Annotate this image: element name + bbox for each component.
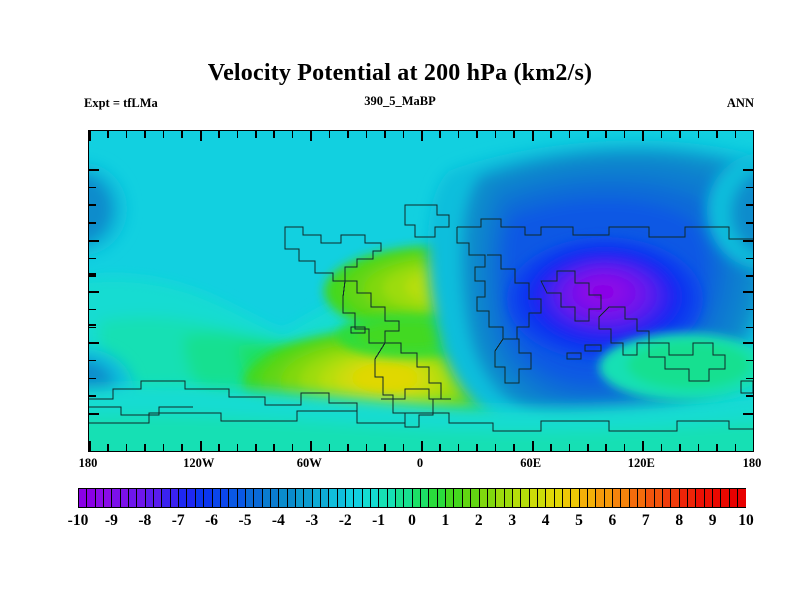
y-tick-minor xyxy=(88,204,96,206)
colorbar-cell xyxy=(246,489,254,507)
colorbar-cell xyxy=(571,489,579,507)
x-tick-minor xyxy=(163,130,165,138)
x-tick-minor xyxy=(403,444,405,452)
x-tick-major xyxy=(200,130,202,141)
x-tick-minor xyxy=(550,444,552,452)
x-tick-minor xyxy=(587,444,589,452)
y-tick-40n xyxy=(88,240,99,242)
x-tick-minor xyxy=(716,130,718,138)
colorbar-cell xyxy=(87,489,95,507)
y-tick-right xyxy=(743,240,754,242)
colorbar-cell xyxy=(738,489,745,507)
x-tick-major xyxy=(89,441,91,452)
colorbar-cell xyxy=(413,489,421,507)
y-tick-minor xyxy=(88,258,96,260)
x-tick-minor xyxy=(218,130,220,138)
y-tick-equator xyxy=(88,291,99,293)
map-plot-area xyxy=(88,130,754,452)
x-tick-major xyxy=(532,441,534,452)
colorbar-cell xyxy=(196,489,204,507)
x-tick-minor xyxy=(679,130,681,138)
x-tick-minor xyxy=(126,130,128,138)
colorbar-tick-label: 5 xyxy=(575,512,583,530)
x-tick-minor xyxy=(587,130,589,138)
colorbar-cell xyxy=(129,489,137,507)
colorbar-tick-label: -9 xyxy=(105,512,118,530)
colorbar-tick-label: 7 xyxy=(642,512,650,530)
x-tick-minor xyxy=(624,130,626,138)
x-tick-major xyxy=(532,130,534,141)
x-tick-minor xyxy=(605,130,607,138)
colorbar-cell xyxy=(513,489,521,507)
y-tick-minor xyxy=(88,360,96,362)
x-tick-minor xyxy=(384,444,386,452)
colorbar-tick-label: 8 xyxy=(675,512,683,530)
colorbar xyxy=(78,488,746,508)
x-tick-minor xyxy=(292,130,294,138)
x-tick-minor xyxy=(126,444,128,452)
x-tick-major xyxy=(310,441,312,452)
colorbar-cell xyxy=(446,489,454,507)
colorbar-cell xyxy=(162,489,170,507)
colorbar-cell xyxy=(238,489,246,507)
x-tick-minor xyxy=(237,444,239,452)
x-axis-label-0: 0 xyxy=(417,456,423,471)
x-tick-minor xyxy=(292,444,294,452)
x-tick-minor xyxy=(163,444,165,452)
colorbar-cell xyxy=(79,489,87,507)
page-title: Velocity Potential at 200 hPa (km2/s) xyxy=(0,60,800,87)
colorbar-cell xyxy=(613,489,621,507)
colorbar-cell xyxy=(638,489,646,507)
colorbar-tick-label: -8 xyxy=(138,512,151,530)
colorbar-cell xyxy=(496,489,504,507)
colorbar-cell xyxy=(588,489,596,507)
x-tick-minor xyxy=(237,130,239,138)
x-tick-minor xyxy=(347,130,349,138)
colorbar-tick-label: 0 xyxy=(408,512,416,530)
colorbar-tick-label: 10 xyxy=(738,512,754,530)
y-tick-minor xyxy=(88,273,96,275)
colorbar-cell xyxy=(121,489,129,507)
x-tick-minor xyxy=(458,444,460,452)
y-tick-minor xyxy=(88,327,96,329)
x-tick-minor xyxy=(144,130,146,138)
y-tick-right xyxy=(743,169,754,171)
colorbar-cell xyxy=(696,489,704,507)
y-tick-minor xyxy=(88,378,96,380)
colorbar-tick-label: -6 xyxy=(205,512,218,530)
x-tick-major xyxy=(200,441,202,452)
x-tick-minor xyxy=(107,444,109,452)
colorbar-cell xyxy=(438,489,446,507)
colorbar-cell xyxy=(179,489,187,507)
x-tick-major xyxy=(753,441,754,452)
x-tick-minor xyxy=(716,444,718,452)
x-tick-minor xyxy=(329,130,331,138)
colorbar-tick-label: 4 xyxy=(542,512,550,530)
y-tick-right-minor xyxy=(746,309,754,311)
x-tick-minor xyxy=(476,130,478,138)
x-tick-minor xyxy=(366,130,368,138)
x-tick-minor xyxy=(458,130,460,138)
y-tick-40s xyxy=(88,342,99,344)
colorbar-cell xyxy=(371,489,379,507)
x-tick-minor xyxy=(495,130,497,138)
colorbar-cell xyxy=(137,489,145,507)
y-tick-minor xyxy=(88,275,96,277)
y-tick-right xyxy=(743,413,754,415)
colorbar-cell xyxy=(546,489,554,507)
x-tick-minor xyxy=(107,130,109,138)
colorbar-cell xyxy=(213,489,221,507)
colorbar-cell xyxy=(271,489,279,507)
colorbar-cell xyxy=(471,489,479,507)
colorbar-tick-label: -2 xyxy=(339,512,352,530)
x-tick-minor xyxy=(273,444,275,452)
colorbar-tick-label: 1 xyxy=(442,512,450,530)
x-tick-major xyxy=(421,130,423,141)
x-tick-minor xyxy=(679,444,681,452)
x-tick-minor xyxy=(624,444,626,452)
colorbar-cell xyxy=(630,489,638,507)
x-tick-minor xyxy=(403,130,405,138)
colorbar-cell xyxy=(263,489,271,507)
colorbar-cell xyxy=(563,489,571,507)
y-tick-right-minor xyxy=(746,204,754,206)
colorbar-cell xyxy=(580,489,588,507)
y-tick-80s xyxy=(88,413,99,415)
x-tick-minor xyxy=(735,444,737,452)
colorbar-cell xyxy=(329,489,337,507)
colorbar-cell xyxy=(555,489,563,507)
colorbar-cell xyxy=(646,489,654,507)
colorbar-cell xyxy=(663,489,671,507)
x-tick-minor xyxy=(605,444,607,452)
colorbar-cell xyxy=(321,489,329,507)
y-tick-minor xyxy=(88,187,96,189)
colorbar-cell xyxy=(288,489,296,507)
y-tick-right-minor xyxy=(746,327,754,329)
colorbar-cell xyxy=(379,489,387,507)
colorbar-cell xyxy=(730,489,738,507)
x-axis-label-120e: 120E xyxy=(628,456,655,471)
x-tick-minor xyxy=(329,444,331,452)
colorbar-cell xyxy=(454,489,462,507)
x-tick-minor xyxy=(698,444,700,452)
x-tick-minor xyxy=(513,444,515,452)
x-tick-minor xyxy=(144,444,146,452)
x-axis-label-180w: 180 xyxy=(79,456,98,471)
x-tick-major xyxy=(642,130,644,141)
colorbar-cell xyxy=(463,489,471,507)
y-tick-80n xyxy=(88,169,99,171)
x-tick-minor xyxy=(273,130,275,138)
colorbar-cell xyxy=(721,489,729,507)
colorbar-cell xyxy=(171,489,179,507)
y-tick-right-minor xyxy=(746,395,754,397)
colorbar-cell xyxy=(530,489,538,507)
colorbar-cell xyxy=(488,489,496,507)
y-tick-minor xyxy=(88,222,96,224)
x-tick-minor xyxy=(569,444,571,452)
colorbar-tick-label: -4 xyxy=(272,512,285,530)
colorbar-cell xyxy=(221,489,229,507)
colorbar-cell xyxy=(254,489,262,507)
colorbar-cell xyxy=(621,489,629,507)
y-tick-minor xyxy=(88,324,96,326)
colorbar-tick-label: -5 xyxy=(239,512,252,530)
x-tick-minor xyxy=(550,130,552,138)
y-tick-right-minor xyxy=(746,222,754,224)
x-tick-major xyxy=(642,441,644,452)
y-tick-right-minor xyxy=(746,275,754,277)
colorbar-tick-label: 3 xyxy=(508,512,516,530)
colorbar-cell xyxy=(655,489,663,507)
x-axis-label-120w: 120W xyxy=(183,456,214,471)
colorbar-tick-label: -10 xyxy=(68,512,89,530)
colorbar-cell xyxy=(313,489,321,507)
colorbar-cell xyxy=(605,489,613,507)
colorbar-cell xyxy=(229,489,237,507)
x-tick-minor xyxy=(181,444,183,452)
colorbar-cell xyxy=(104,489,112,507)
x-tick-minor xyxy=(218,444,220,452)
colorbar-cell xyxy=(388,489,396,507)
colorbar-cell xyxy=(713,489,721,507)
colorbar-tick-label: -7 xyxy=(172,512,185,530)
velocity-potential-contour-field xyxy=(89,131,753,451)
colorbar-cell xyxy=(521,489,529,507)
colorbar-tick-label: -1 xyxy=(372,512,385,530)
x-tick-minor xyxy=(366,444,368,452)
colorbar-cell xyxy=(421,489,429,507)
colorbar-cell xyxy=(204,489,212,507)
colorbar-cell xyxy=(505,489,513,507)
x-tick-minor xyxy=(513,130,515,138)
x-tick-minor xyxy=(347,444,349,452)
y-tick-right xyxy=(743,342,754,344)
x-tick-minor xyxy=(384,130,386,138)
colorbar-cell xyxy=(429,489,437,507)
colorbar-cell xyxy=(404,489,412,507)
x-tick-minor xyxy=(495,444,497,452)
colorbar-cell xyxy=(338,489,346,507)
colorbar-cell xyxy=(680,489,688,507)
x-tick-major xyxy=(310,130,312,141)
colorbar-cell xyxy=(346,489,354,507)
y-tick-right-minor xyxy=(746,187,754,189)
x-tick-minor xyxy=(439,444,441,452)
x-tick-minor xyxy=(698,130,700,138)
x-axis-label-60w: 60W xyxy=(297,456,322,471)
season-label: ANN xyxy=(727,96,754,111)
colorbar-cell xyxy=(538,489,546,507)
y-tick-minor xyxy=(88,309,96,311)
colorbar-cell xyxy=(279,489,287,507)
colorbar-cell xyxy=(363,489,371,507)
colorbar-tick-label: 9 xyxy=(709,512,717,530)
run-id-label: 390_5_MaBP xyxy=(0,94,800,109)
colorbar-cell xyxy=(146,489,154,507)
x-tick-minor xyxy=(661,444,663,452)
y-tick-right-minor xyxy=(746,360,754,362)
x-tick-major xyxy=(753,130,754,141)
x-axis-label-180e: 180 xyxy=(743,456,762,471)
colorbar-cell xyxy=(296,489,304,507)
x-tick-minor xyxy=(255,444,257,452)
x-tick-minor xyxy=(181,130,183,138)
colorbar-cell xyxy=(596,489,604,507)
x-tick-minor xyxy=(255,130,257,138)
y-tick-right xyxy=(743,291,754,293)
y-tick-right-minor xyxy=(746,378,754,380)
colorbar-cell xyxy=(705,489,713,507)
x-tick-minor xyxy=(439,130,441,138)
colorbar-tick-label: -3 xyxy=(305,512,318,530)
x-axis-label-60e: 60E xyxy=(520,456,541,471)
colorbar-cell xyxy=(354,489,362,507)
colorbar-cell xyxy=(688,489,696,507)
colorbar-cell xyxy=(187,489,195,507)
x-tick-major xyxy=(89,130,91,141)
figure-canvas: Velocity Potential at 200 hPa (km2/s) Ex… xyxy=(0,0,800,600)
colorbar-cell xyxy=(480,489,488,507)
x-tick-minor xyxy=(476,444,478,452)
colorbar-cell xyxy=(96,489,104,507)
y-tick-minor xyxy=(88,395,96,397)
colorbar-cell xyxy=(304,489,312,507)
colorbar-tick-label: 6 xyxy=(609,512,617,530)
colorbar-cell xyxy=(671,489,679,507)
colorbar-tick-label: 2 xyxy=(475,512,483,530)
colorbar-cell xyxy=(396,489,404,507)
colorbar-cell xyxy=(112,489,120,507)
x-tick-minor xyxy=(661,130,663,138)
x-tick-minor xyxy=(569,130,571,138)
colorbar-cell xyxy=(154,489,162,507)
y-tick-right-minor xyxy=(746,258,754,260)
x-tick-major xyxy=(421,441,423,452)
x-tick-minor xyxy=(735,130,737,138)
